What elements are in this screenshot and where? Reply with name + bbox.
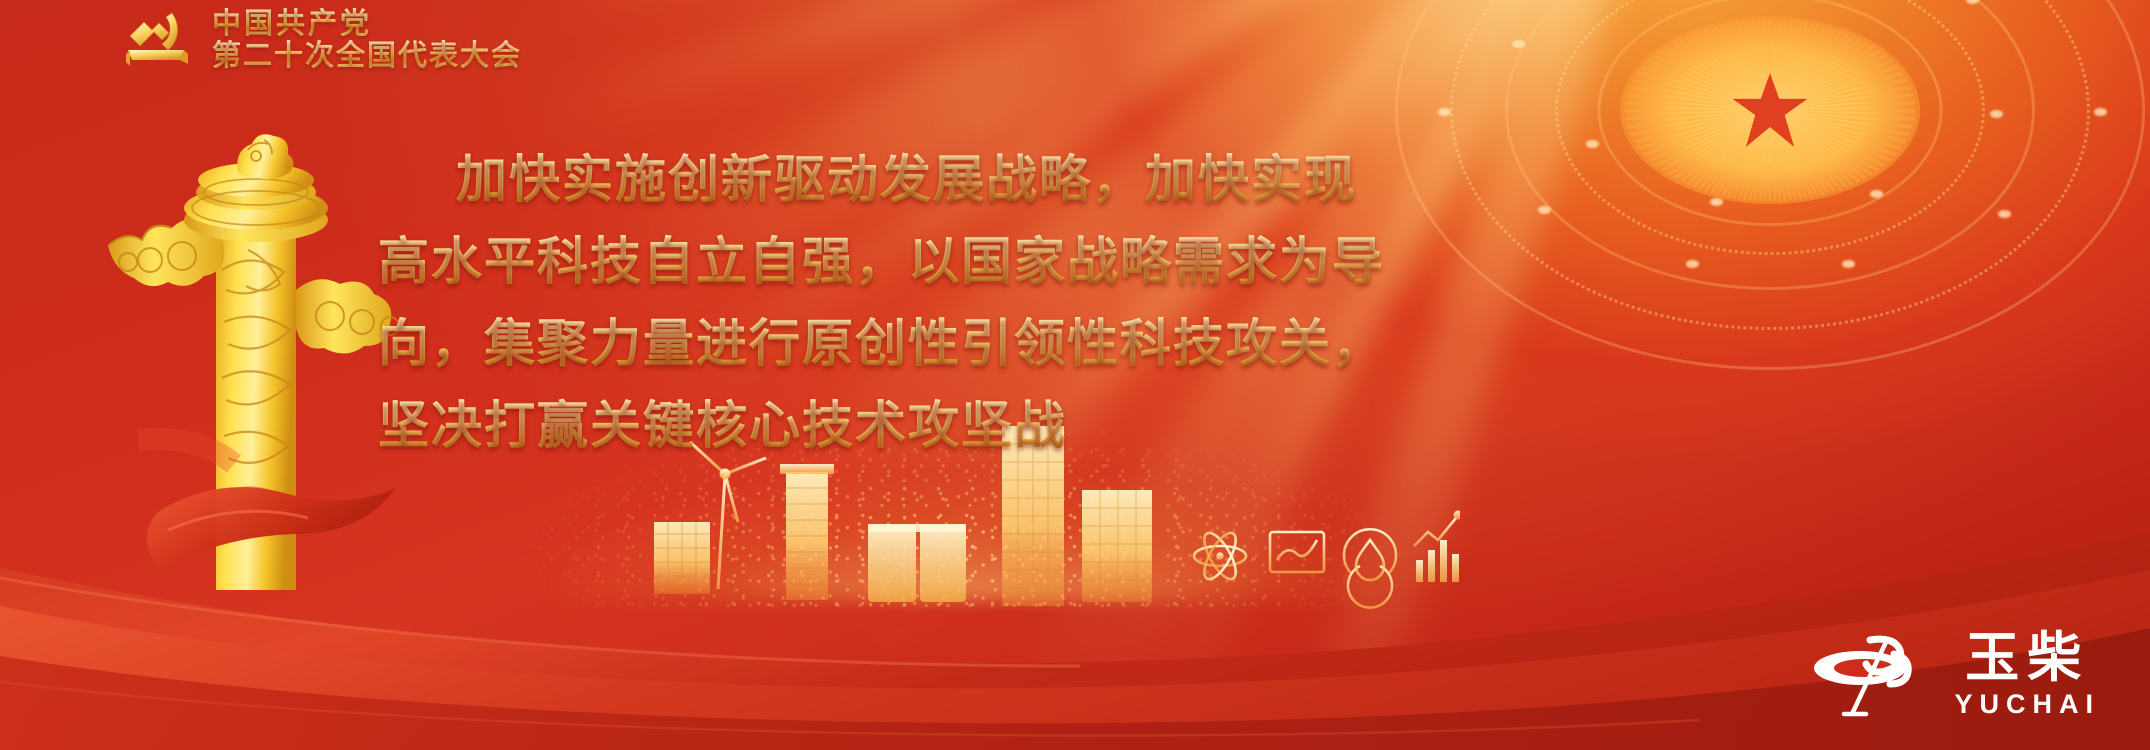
yuchai-logo: 玉柴 YUCHAI xyxy=(1808,630,2100,718)
congress-title-line2: 第二十次全国代表大会 xyxy=(212,40,522,72)
tower-building-icon xyxy=(780,464,834,600)
brand-name-en: YUCHAI xyxy=(1954,691,2100,718)
low-rise-building-icon xyxy=(654,522,710,594)
water-droplet-icon xyxy=(1344,529,1396,607)
slogan-line-1: 加快实施创新驱动发展战略，加快实现 xyxy=(378,140,1678,222)
congress-header: 中国共产党 第二十次全国代表大会 xyxy=(120,6,522,74)
slogan-line-4: 坚决打赢关键核心技术攻坚战 xyxy=(378,386,1678,468)
hammer-and-sickle-icon xyxy=(120,6,196,74)
monitor-display-icon xyxy=(1270,532,1324,582)
huabiao-column-icon xyxy=(98,110,418,590)
yuchai-ellipse-mark-icon xyxy=(1808,630,1936,718)
office-block-icon xyxy=(1082,490,1152,602)
congress-title-line1: 中国共产党 xyxy=(212,8,522,40)
bar-chart-growth-icon xyxy=(1414,511,1460,583)
slogan-line-2: 高水平科技自立自强，以国家战略需求为导 xyxy=(378,222,1678,304)
five-pointed-star-icon xyxy=(1731,73,1809,147)
atom-icon xyxy=(1194,528,1246,583)
banner-root: 中国共产党 第二十次全国代表大会 xyxy=(0,0,2150,750)
slogan-block: 加快实施创新驱动发展战略，加快实现 高水平科技自立自强，以国家战略需求为导 向，… xyxy=(378,140,1678,468)
silo-tanks-icon xyxy=(868,524,966,602)
slogan-line-3: 向，集聚力量进行原创性引领性科技攻关， xyxy=(378,304,1678,386)
brand-name-cn: 玉柴 xyxy=(1965,631,2089,685)
